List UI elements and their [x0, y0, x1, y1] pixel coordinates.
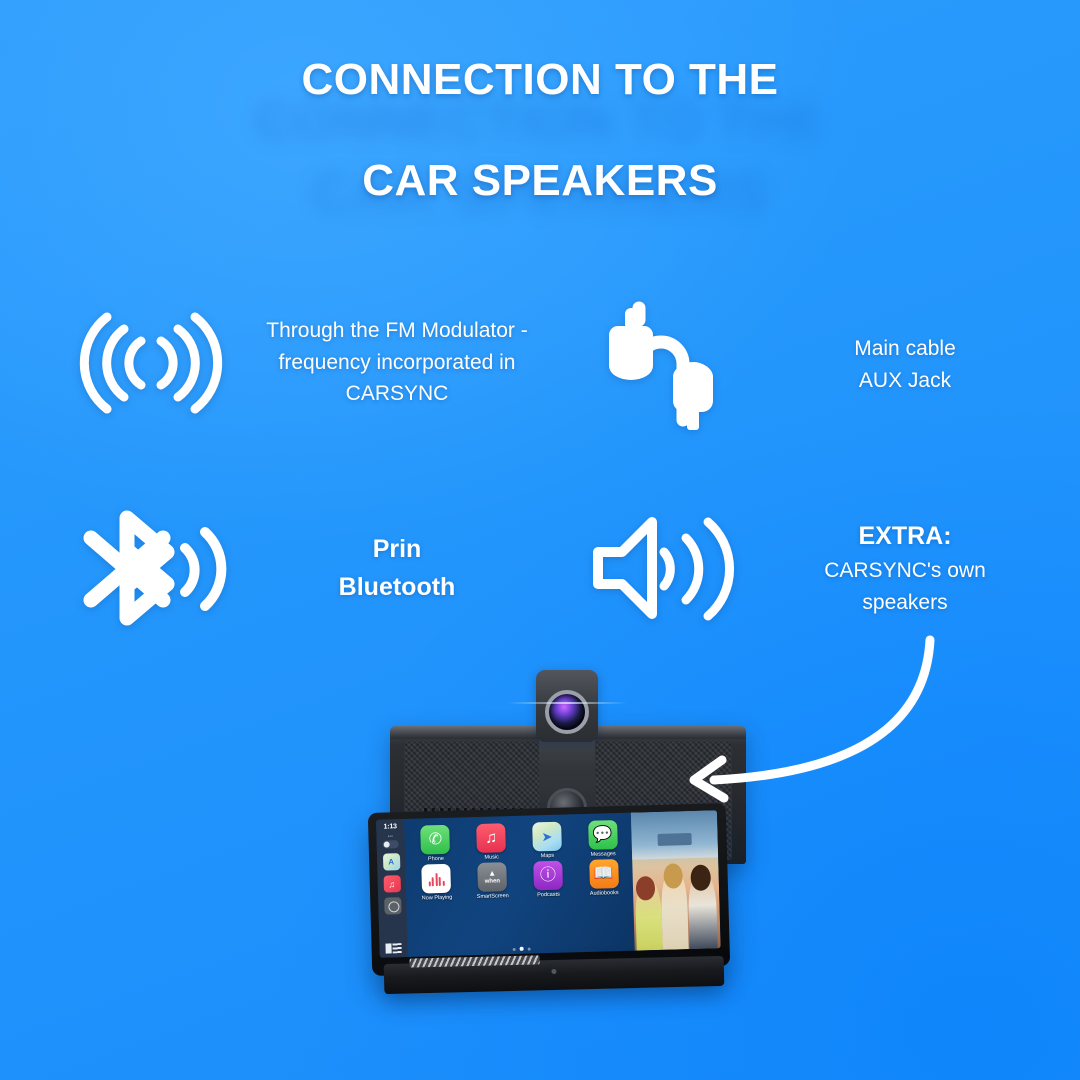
carplay-app-phone[interactable]: ✆ Phone [409, 824, 462, 862]
carplay-app-grid: ✆ Phone ♫ Music ➤ Maps 💬 Messages [404, 813, 635, 957]
cable-plug-icon [573, 282, 758, 447]
lens-flare [507, 702, 627, 704]
carplay-screen: 1:13 ▪▪▪ ✆ Phone ♫ M [376, 810, 721, 957]
feature-fm-caption: Through the FM Modulator - frequency inc… [243, 315, 559, 411]
speaker-waves-icon [573, 485, 758, 650]
carplay-app-smartscreen[interactable]: ▲ when SmartScreen [466, 862, 519, 900]
audiobooks-icon: 📖 [589, 859, 619, 889]
music-mini-icon[interactable] [383, 875, 400, 892]
feature-aux-cable: Main cable AUX Jack [559, 282, 1060, 447]
carplay-app-now-playing[interactable]: Now Playing [410, 863, 463, 901]
device-base-stand [384, 956, 725, 994]
feature-speakers-caption: EXTRA: CARSYNC's own speakers [758, 517, 1060, 619]
smartscreen-sublabel: when [485, 878, 501, 884]
radio-waves-icon [58, 280, 243, 445]
feature-bluetooth-caption: Prin Bluetooth [243, 530, 559, 606]
people-in-car-photo [631, 810, 721, 950]
signal-indicator: ▪▪▪ [388, 833, 393, 838]
carplay-app-music[interactable]: ♫ Music [465, 823, 518, 861]
dial-mini-icon[interactable] [384, 897, 401, 914]
page-title-line-2: CAR SPEAKERS [0, 159, 1080, 204]
messages-icon: 💬 [588, 820, 618, 850]
podcasts-icon: ⓘ [533, 861, 563, 891]
maps-mini-icon[interactable] [382, 853, 399, 870]
carplay-app-podcasts[interactable]: ⓘ Podcasts [522, 860, 575, 898]
carplay-clock: 1:13 [383, 823, 396, 830]
bluetooth-icon [58, 485, 243, 650]
feature-builtin-speakers: EXTRA: CARSYNC's own speakers [559, 485, 1060, 650]
carplay-sidebar[interactable]: 1:13 ▪▪▪ [376, 819, 408, 958]
feature-bluetooth: Prin Bluetooth [58, 485, 559, 650]
carplay-app-messages[interactable]: 💬 Messages [576, 820, 629, 858]
smartscreen-icon: ▲ when [477, 862, 507, 892]
device-image: 1:13 ▪▪▪ ✆ Phone ♫ M [362, 660, 772, 1020]
now-playing-icon [422, 864, 452, 894]
phone-icon: ✆ [421, 825, 451, 855]
camera-lens-icon [545, 690, 589, 734]
page-title: CONNECTION TO THE CAR SPEAKERS [0, 58, 1080, 204]
maps-icon: ➤ [532, 822, 562, 852]
device-display-shell: 1:13 ▪▪▪ ✆ Phone ♫ M [368, 803, 730, 976]
feature-grid: Through the FM Modulator - frequency inc… [58, 282, 1060, 650]
page-indicator-dots[interactable] [408, 944, 635, 954]
carplay-app-audiobooks[interactable]: 📖 Audiobooks [577, 859, 630, 897]
sidebar-toggle[interactable] [383, 840, 399, 848]
feature-aux-caption: Main cable AUX Jack [758, 333, 1060, 397]
front-camera-module [536, 670, 598, 742]
home-grid-icon[interactable] [385, 943, 402, 953]
music-note-icon: ♫ [476, 823, 506, 853]
feature-fm-modulator: Through the FM Modulator - frequency inc… [58, 278, 559, 447]
page-title-line-1: CONNECTION TO THE [0, 58, 1080, 103]
carplay-app-maps[interactable]: ➤ Maps [521, 821, 574, 859]
